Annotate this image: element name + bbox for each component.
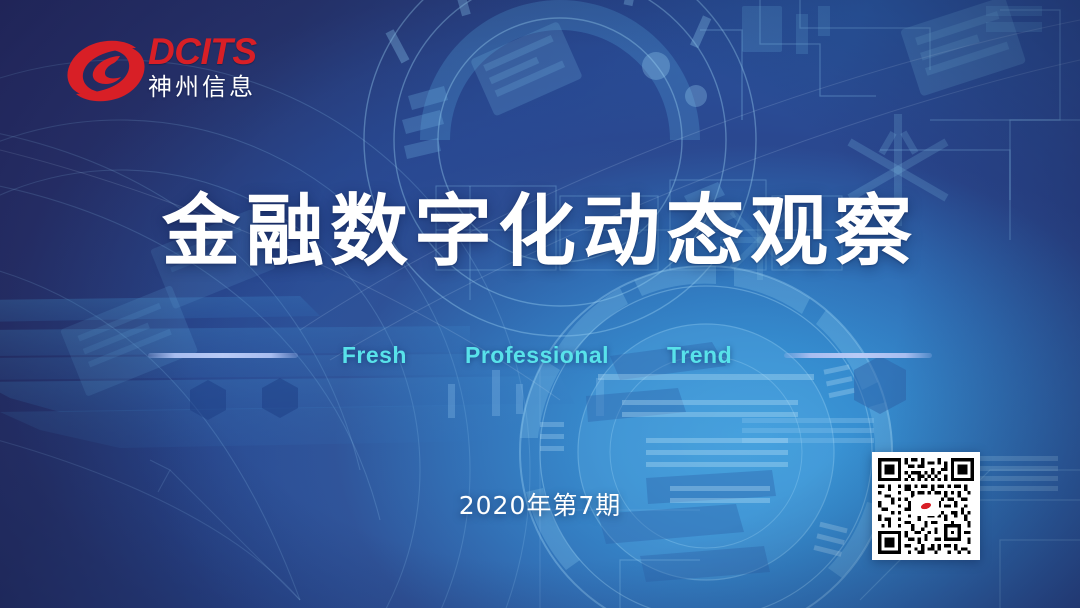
tagline-rule-right bbox=[784, 353, 932, 358]
brand-chinese-name: 神州信息 bbox=[148, 72, 298, 102]
brand-latin-name: DCITS bbox=[148, 32, 298, 72]
qr-center-logo-icon bbox=[913, 496, 939, 516]
tagline-word-fresh: Fresh bbox=[342, 342, 407, 369]
dcits-swirl-icon bbox=[64, 36, 150, 108]
poster-slide: DCITS 神州信息 金融数字化动态观察 Fresh Professional … bbox=[0, 0, 1080, 608]
brand-logo: DCITS 神州信息 bbox=[64, 32, 294, 114]
tagline-rule-left bbox=[148, 353, 298, 358]
tagline-row: Fresh Professional Trend bbox=[0, 338, 1080, 372]
tagline-word-trend: Trend bbox=[667, 342, 732, 369]
page-title: 金融数字化动态观察 bbox=[0, 186, 1080, 278]
qr-code[interactable] bbox=[872, 452, 980, 560]
brand-wordmark: DCITS 神州信息 bbox=[148, 32, 298, 102]
tagline-word-professional: Professional bbox=[465, 342, 609, 369]
